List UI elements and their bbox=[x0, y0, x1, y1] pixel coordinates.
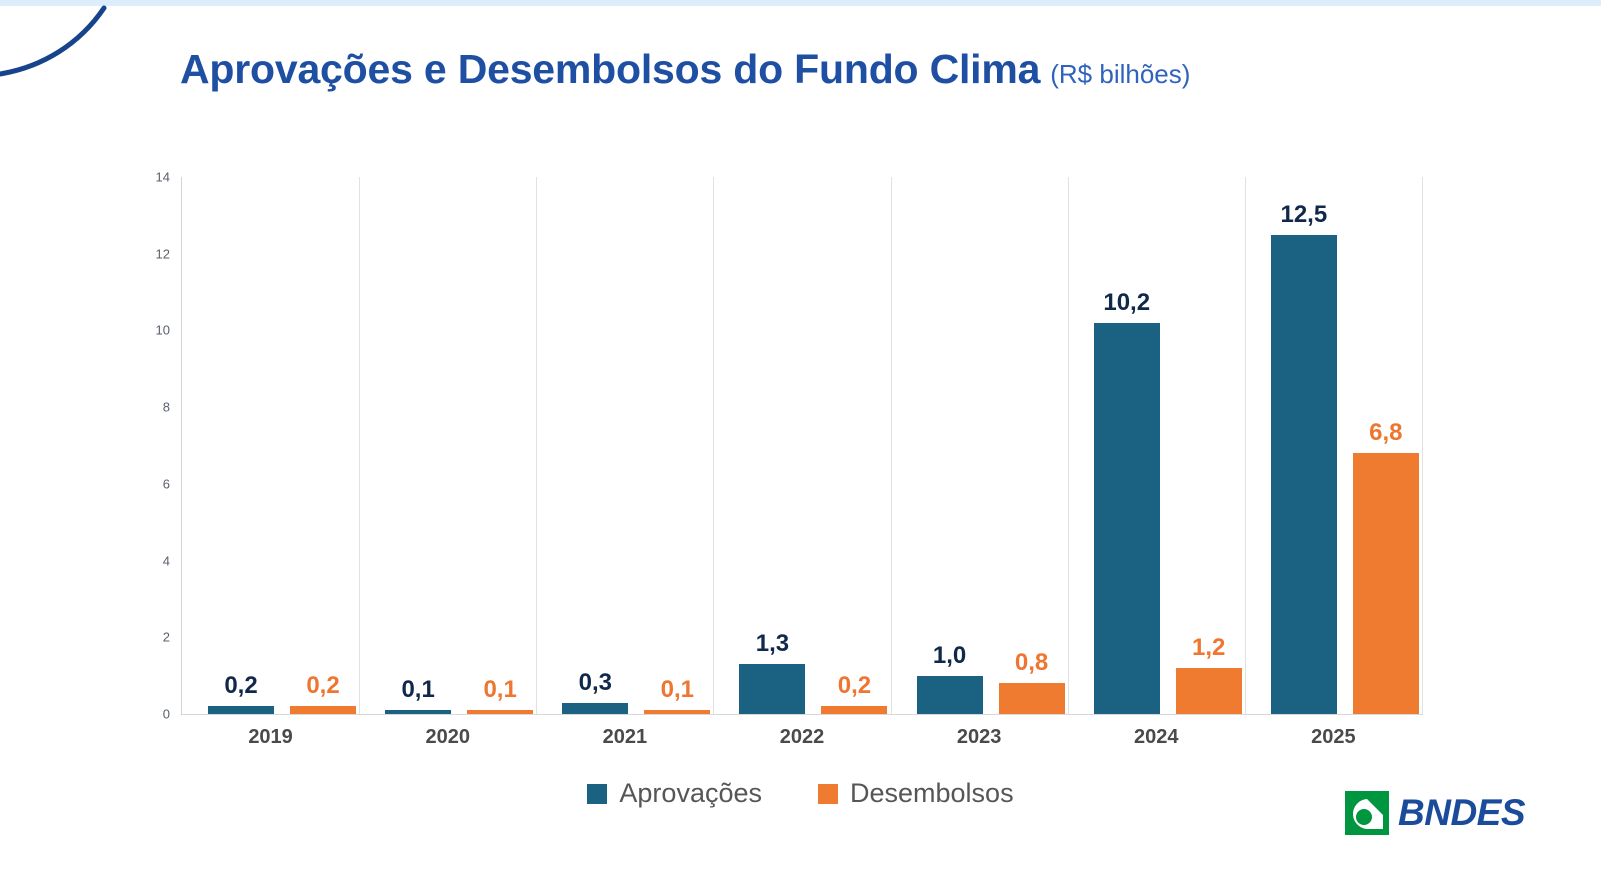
bar-aprov-2019[interactable] bbox=[208, 706, 274, 714]
legend-item-aprovacoes[interactable]: Aprovações bbox=[587, 778, 762, 809]
x-axis-label-2021: 2021 bbox=[536, 726, 713, 749]
bar-value-label: 0,1 bbox=[445, 676, 555, 704]
bar-chart: 02468101214 0,20,20,10,10,30,11,30,21,00… bbox=[0, 0, 1601, 877]
bar-aprov-2024[interactable] bbox=[1094, 323, 1160, 714]
y-axis-tick-label: 0 bbox=[120, 707, 170, 722]
bar-value-label: 0,1 bbox=[622, 676, 732, 704]
x-axis-label-2025: 2025 bbox=[1245, 726, 1422, 749]
legend-swatch-icon bbox=[587, 784, 607, 804]
bar-group: 0,20,2 bbox=[208, 177, 359, 714]
y-axis-tick-label: 6 bbox=[120, 476, 170, 491]
bar-value-label: 12,5 bbox=[1249, 201, 1359, 229]
bar-desem-2022[interactable] bbox=[821, 706, 887, 714]
bar-aprov-2021[interactable] bbox=[562, 703, 628, 715]
bndes-logo: BNDES bbox=[1345, 791, 1525, 835]
bar-group: 10,21,2 bbox=[1094, 177, 1245, 714]
y-axis-tick-label: 14 bbox=[120, 170, 170, 185]
x-axis-line bbox=[181, 714, 1423, 715]
bar-desem-2021[interactable] bbox=[644, 710, 710, 714]
bar-value-label: 10,2 bbox=[1072, 289, 1182, 317]
bar-aprov-2025[interactable] bbox=[1271, 235, 1337, 714]
bar-value-label: 0,2 bbox=[799, 672, 909, 700]
bar-group: 0,30,1 bbox=[562, 177, 713, 714]
y-axis-tick-label: 10 bbox=[120, 323, 170, 338]
bndes-house-icon bbox=[1345, 791, 1389, 835]
legend-label: Desembolsos bbox=[850, 778, 1014, 809]
bar-aprov-2023[interactable] bbox=[917, 676, 983, 714]
x-axis-label-2023: 2023 bbox=[891, 726, 1068, 749]
x-axis-label-2024: 2024 bbox=[1068, 726, 1245, 749]
bndes-wordmark: BNDES bbox=[1398, 792, 1525, 834]
legend-swatch-icon bbox=[818, 784, 838, 804]
bar-group: 1,30,2 bbox=[739, 177, 890, 714]
bar-value-label: 1,3 bbox=[717, 630, 827, 658]
bar-group: 0,10,1 bbox=[385, 177, 536, 714]
x-axis-label-2022: 2022 bbox=[713, 726, 890, 749]
bar-desem-2024[interactable] bbox=[1176, 668, 1242, 714]
bar-value-label: 0,8 bbox=[977, 649, 1087, 677]
bar-value-label: 1,2 bbox=[1154, 634, 1264, 662]
y-axis-tick-label: 4 bbox=[120, 553, 170, 568]
bar-value-label: 0,2 bbox=[268, 672, 378, 700]
bar-aprov-2022[interactable] bbox=[739, 664, 805, 714]
bar-group: 12,56,8 bbox=[1271, 177, 1422, 714]
slide-canvas: Aprovações e Desembolsos do Fundo Clima(… bbox=[0, 0, 1601, 877]
bar-desem-2020[interactable] bbox=[467, 710, 533, 714]
y-axis-tick-label: 12 bbox=[120, 246, 170, 261]
legend-label: Aprovações bbox=[619, 778, 762, 809]
bar-value-label: 6,8 bbox=[1331, 419, 1441, 447]
bar-group: 1,00,8 bbox=[917, 177, 1068, 714]
y-axis-tick-label: 2 bbox=[120, 630, 170, 645]
bar-aprov-2020[interactable] bbox=[385, 710, 451, 714]
x-axis-label-2020: 2020 bbox=[359, 726, 536, 749]
bar-desem-2019[interactable] bbox=[290, 706, 356, 714]
y-axis-tick-label: 8 bbox=[120, 400, 170, 415]
bar-desem-2025[interactable] bbox=[1353, 453, 1419, 714]
bar-desem-2023[interactable] bbox=[999, 683, 1065, 714]
x-axis-label-2019: 2019 bbox=[182, 726, 359, 749]
legend-item-desembolsos[interactable]: Desembolsos bbox=[818, 778, 1014, 809]
plot-area: 0,20,20,10,10,30,11,30,21,00,810,21,212,… bbox=[182, 177, 1422, 714]
